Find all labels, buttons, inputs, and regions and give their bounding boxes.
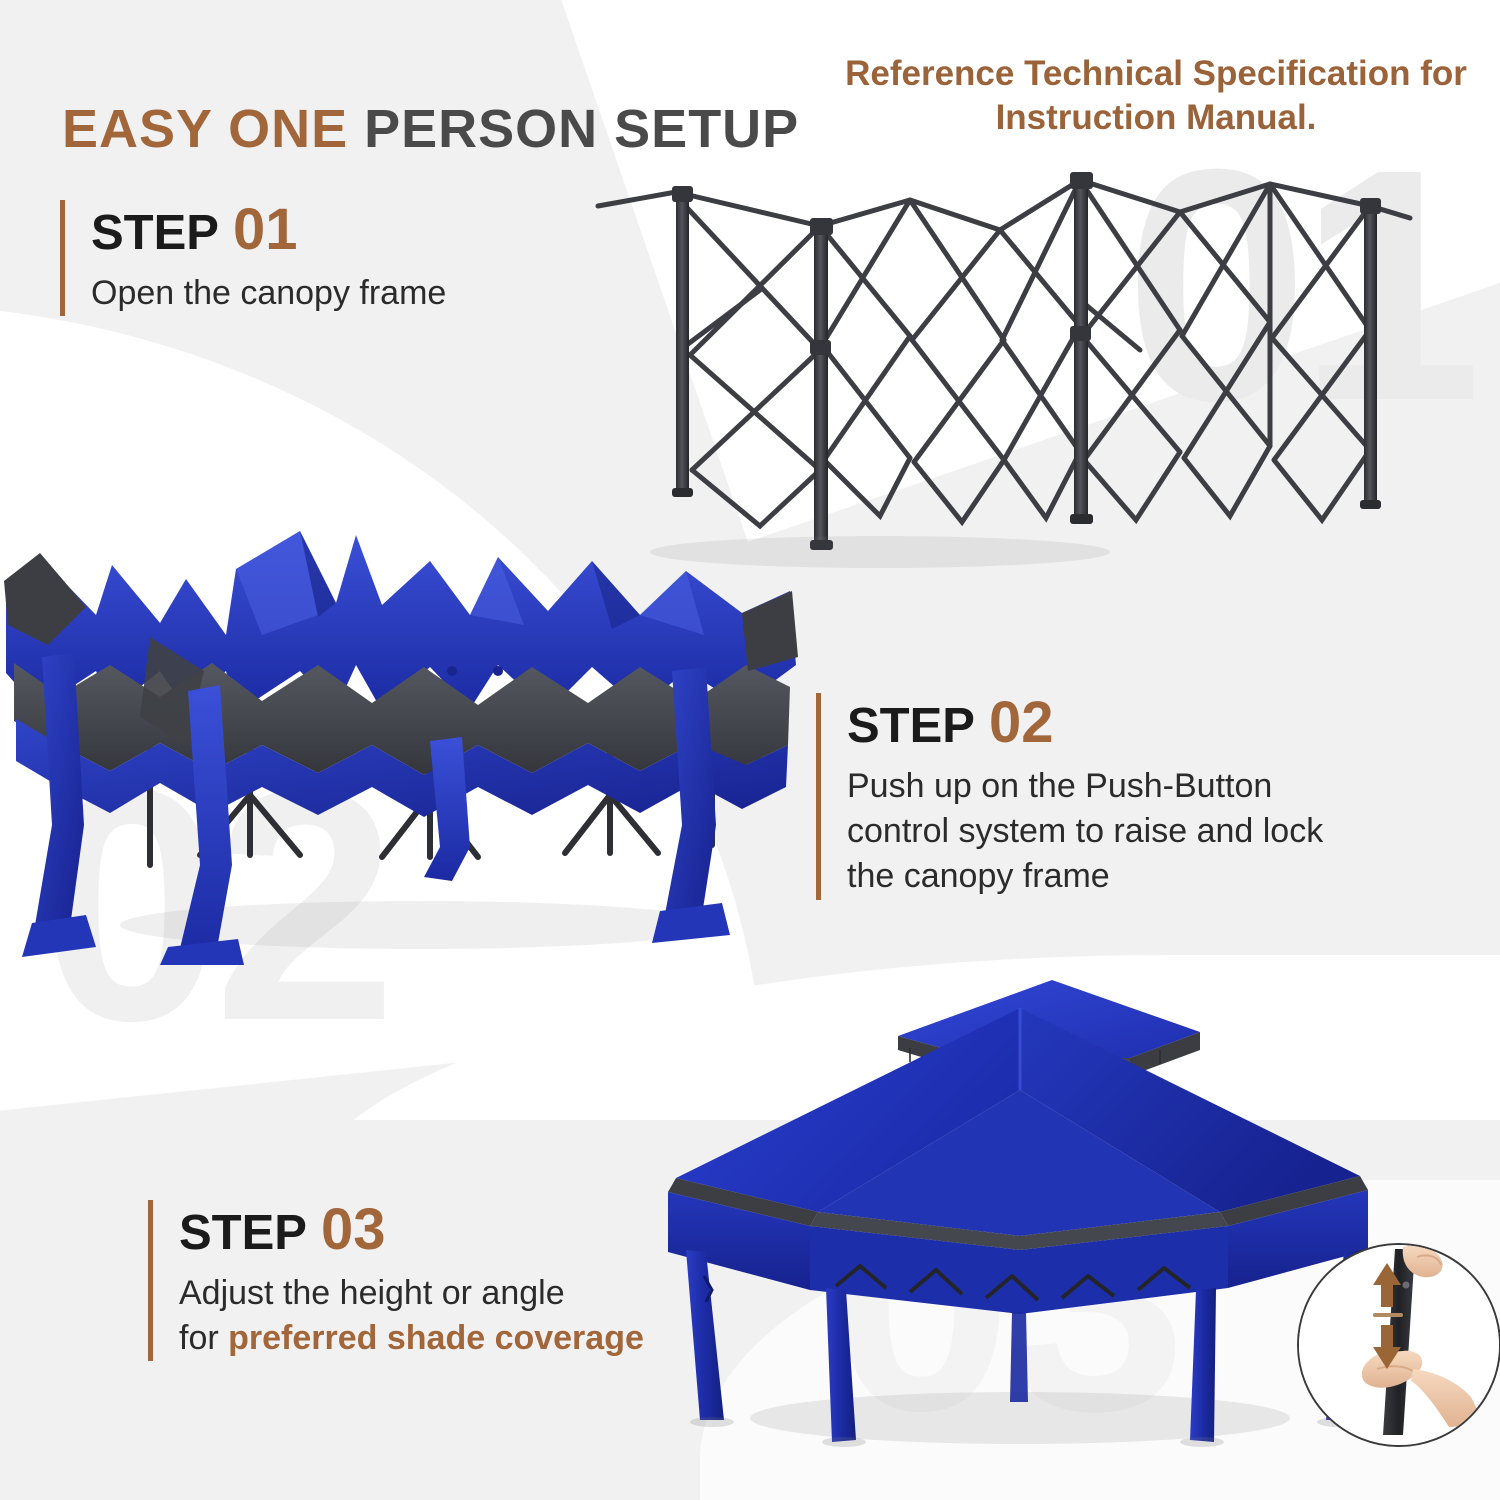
step-03-description: Adjust the height or angle for preferred… xyxy=(179,1271,644,1361)
folded-canopy-image xyxy=(0,495,800,965)
step-block-02: STEP02 Push up on the Push-Button contro… xyxy=(816,693,1323,900)
page-title-highlight: EASY ONE xyxy=(62,99,348,159)
step-01-number: 01 xyxy=(233,197,298,262)
step-block-01: STEP01 Open the canopy frame xyxy=(60,200,446,316)
page-title: EASY ONE PERSON SETUP xyxy=(62,98,799,160)
step-03-label: STEP xyxy=(179,1206,307,1260)
height-adjust-illustration xyxy=(1299,1245,1499,1445)
step-02-number: 02 xyxy=(989,690,1054,755)
step-03-line-2: for preferred shade coverage xyxy=(179,1316,644,1361)
step-block-03: STEP03 Adjust the height or angle for pr… xyxy=(148,1200,644,1361)
step-01-heading: STEP01 xyxy=(91,200,446,261)
step-02-description: Push up on the Push-Button control syste… xyxy=(847,764,1323,900)
reference-note: Reference Technical Specification for In… xyxy=(826,52,1486,140)
height-adjust-callout xyxy=(1297,1243,1500,1447)
step-03-line-2-plain: for xyxy=(179,1319,228,1357)
step-02-line-2: control system to raise and lock xyxy=(847,809,1323,854)
step-03-heading: STEP03 xyxy=(179,1200,644,1261)
step-02-label: STEP xyxy=(847,699,975,753)
step-01-description: Open the canopy frame xyxy=(91,271,446,316)
step-02-line-1: Push up on the Push-Button xyxy=(847,764,1323,809)
step-01-label: STEP xyxy=(91,206,219,260)
step-03-line-1: Adjust the height or angle xyxy=(179,1271,644,1316)
step-03-number: 03 xyxy=(321,1197,386,1262)
step-02-heading: STEP02 xyxy=(847,693,1323,754)
page-title-rest: PERSON SETUP xyxy=(348,99,799,159)
step-02-line-3: the canopy frame xyxy=(847,854,1323,899)
assembled-gazebo-image xyxy=(660,950,1380,1460)
infographic-stage: 01 02 03 xyxy=(0,0,1500,1500)
step-03-line-2-accent: preferred shade coverage xyxy=(228,1319,644,1357)
